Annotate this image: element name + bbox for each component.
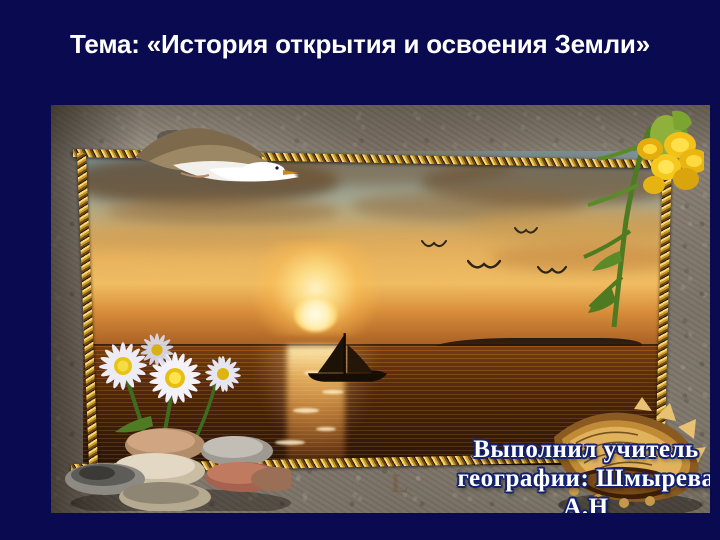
page-title: Тема: «История открытия и освоения Земли… [60,28,660,61]
water-glint [322,390,344,394]
flying-bird-icon [421,239,447,253]
flying-bird-icon [514,226,538,239]
river-stones-icon [61,421,291,511]
author-credit-text: Выполнил учитель географии: Шмырева А.Н [456,435,710,513]
yellow-flowers-icon [554,105,704,331]
sailboat-silhouette [298,332,397,389]
sun-disc [294,297,338,332]
watermark-logo: L [391,469,408,499]
seagull-icon [113,113,303,223]
slide-image: Выполнил учитель географии: Шмырева А.Н … [51,105,710,513]
flying-bird-icon [467,258,501,276]
